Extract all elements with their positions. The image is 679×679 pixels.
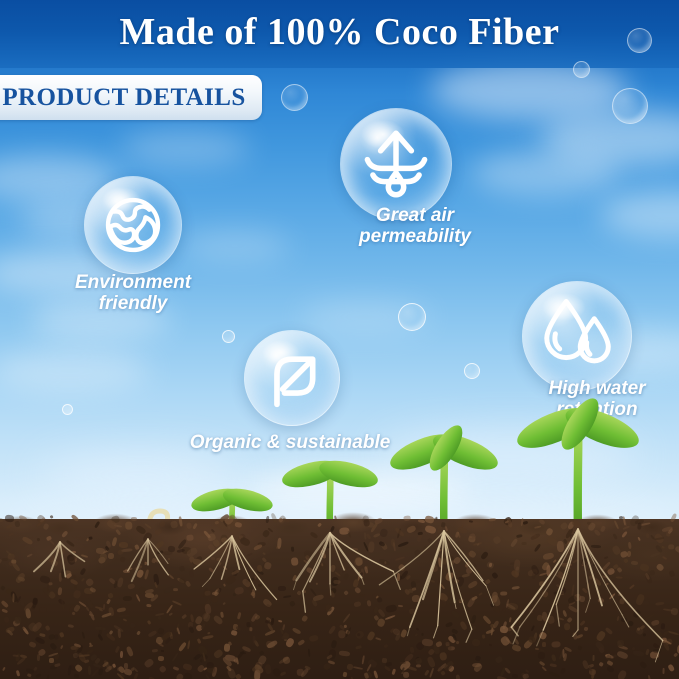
soil-speck (550, 654, 556, 662)
bubble-air-permeability (340, 108, 452, 220)
soil-speck (182, 663, 192, 671)
product-detail-banner: Made of 100% Coco Fiber PRODUCT DETAILS … (0, 0, 679, 679)
decorative-bubble (62, 404, 73, 415)
soil-speck (661, 623, 666, 629)
soil-speck (674, 545, 679, 555)
soil-speck (35, 673, 41, 678)
soil-speck (264, 664, 271, 675)
soil-speck (148, 676, 156, 679)
feature-environment-label: Environment friendly (38, 272, 228, 315)
soil-speck (668, 630, 679, 635)
soil-speck (434, 516, 437, 519)
soil-speck (548, 671, 559, 678)
soil-speck (206, 662, 214, 669)
globe-icon (85, 177, 181, 273)
soil-speck (2, 667, 6, 671)
product-details-badge-label: PRODUCT DETAILS (0, 75, 248, 120)
soil-speck (159, 665, 167, 673)
soil-speck (647, 675, 651, 679)
decorative-bubble (464, 363, 480, 379)
soil-speck (74, 673, 80, 679)
soil-speck (564, 647, 573, 653)
soil-speck (193, 657, 196, 660)
root-cluster (369, 529, 519, 649)
soil-speck (0, 517, 3, 522)
soil-speck (612, 654, 617, 658)
soil-speck (363, 519, 370, 527)
soil-speck (4, 515, 14, 523)
soil-speck (598, 662, 604, 667)
soil-speck (617, 670, 628, 679)
soil-speck (117, 667, 123, 673)
decorative-bubble (573, 61, 590, 78)
soil-speck (235, 673, 242, 679)
soil-speck (172, 666, 178, 671)
decorative-bubble (281, 84, 308, 111)
soil-speck (663, 668, 665, 674)
soil-speck (362, 655, 365, 664)
decorative-bubble (627, 28, 652, 53)
soil-speck (67, 666, 71, 676)
soil-speck (430, 668, 435, 678)
soil-speck (559, 668, 565, 675)
soil-speck (426, 656, 436, 668)
soil-speck (392, 669, 397, 675)
soil-speck (538, 652, 545, 659)
bubble-organic (244, 330, 340, 426)
soil-speck (424, 669, 430, 676)
soil-speck (662, 555, 668, 560)
soil-speck (639, 660, 647, 668)
soil-speck (470, 520, 474, 523)
soil-speck (616, 650, 628, 659)
air-flow-icon (341, 109, 451, 219)
soil-speck (550, 663, 557, 667)
soil-speck (54, 663, 61, 667)
soil-speck (562, 649, 564, 658)
water-drop-icon (523, 282, 631, 390)
soil-speck (170, 520, 178, 528)
soil-speck (503, 667, 510, 674)
soil-speck (386, 661, 393, 666)
soil-speck (45, 674, 49, 679)
soil-speck (456, 674, 461, 679)
soil-speck (373, 670, 378, 678)
soil-speck (124, 663, 128, 669)
decorative-bubble (612, 88, 648, 124)
decorative-bubble (398, 303, 426, 331)
soil-speck (494, 655, 503, 663)
soil-speck (475, 655, 481, 661)
bubble-water-retention (522, 281, 632, 391)
soil-speck (98, 668, 104, 676)
soil-speck (655, 562, 664, 571)
soil-speck (134, 673, 139, 679)
soil-speck (633, 650, 645, 657)
soil-speck (669, 544, 675, 549)
leaf-icon (245, 331, 339, 425)
soil-speck (159, 521, 165, 527)
soil-speck (652, 642, 659, 649)
soil-speck (512, 673, 518, 678)
soil-speck (125, 521, 132, 529)
soil-speck (338, 650, 349, 656)
soil-speck (234, 521, 242, 527)
soil-speck (654, 601, 664, 605)
soil-speck (416, 664, 421, 668)
soil-speck (175, 672, 184, 679)
soil-speck (402, 672, 408, 678)
soil-speck (183, 672, 193, 679)
soil-speck (16, 670, 20, 677)
soil-bed (0, 519, 679, 679)
soil-speck (668, 664, 676, 673)
decorative-bubble (222, 330, 235, 343)
root-cluster (503, 527, 653, 647)
soil-speck (364, 673, 369, 679)
product-details-badge[interactable]: PRODUCT DETAILS (0, 75, 262, 120)
soil-speck (196, 664, 205, 673)
soil-speck (205, 674, 211, 679)
soil-speck (384, 666, 391, 673)
soil-speck (186, 522, 192, 529)
soil-speck (353, 666, 363, 670)
feature-air-permeability-label: Great air permeability (330, 205, 500, 248)
soil-speck (669, 570, 675, 577)
page-title: Made of 100% Coco Fiber (0, 6, 679, 58)
soil-speck (33, 666, 38, 671)
soil-speck (541, 666, 547, 672)
soil-speck (381, 657, 386, 662)
soil-speck (322, 662, 331, 671)
soil-speck (593, 655, 595, 661)
soil-speck (666, 531, 670, 536)
soil-speck (112, 664, 116, 669)
soil-speck (606, 665, 614, 673)
bubble-environment (84, 176, 182, 274)
soil-speck (143, 658, 154, 668)
soil-speck (439, 652, 448, 662)
soil-speck (200, 659, 202, 662)
soil-speck (522, 673, 529, 679)
soil-speck (88, 665, 91, 674)
